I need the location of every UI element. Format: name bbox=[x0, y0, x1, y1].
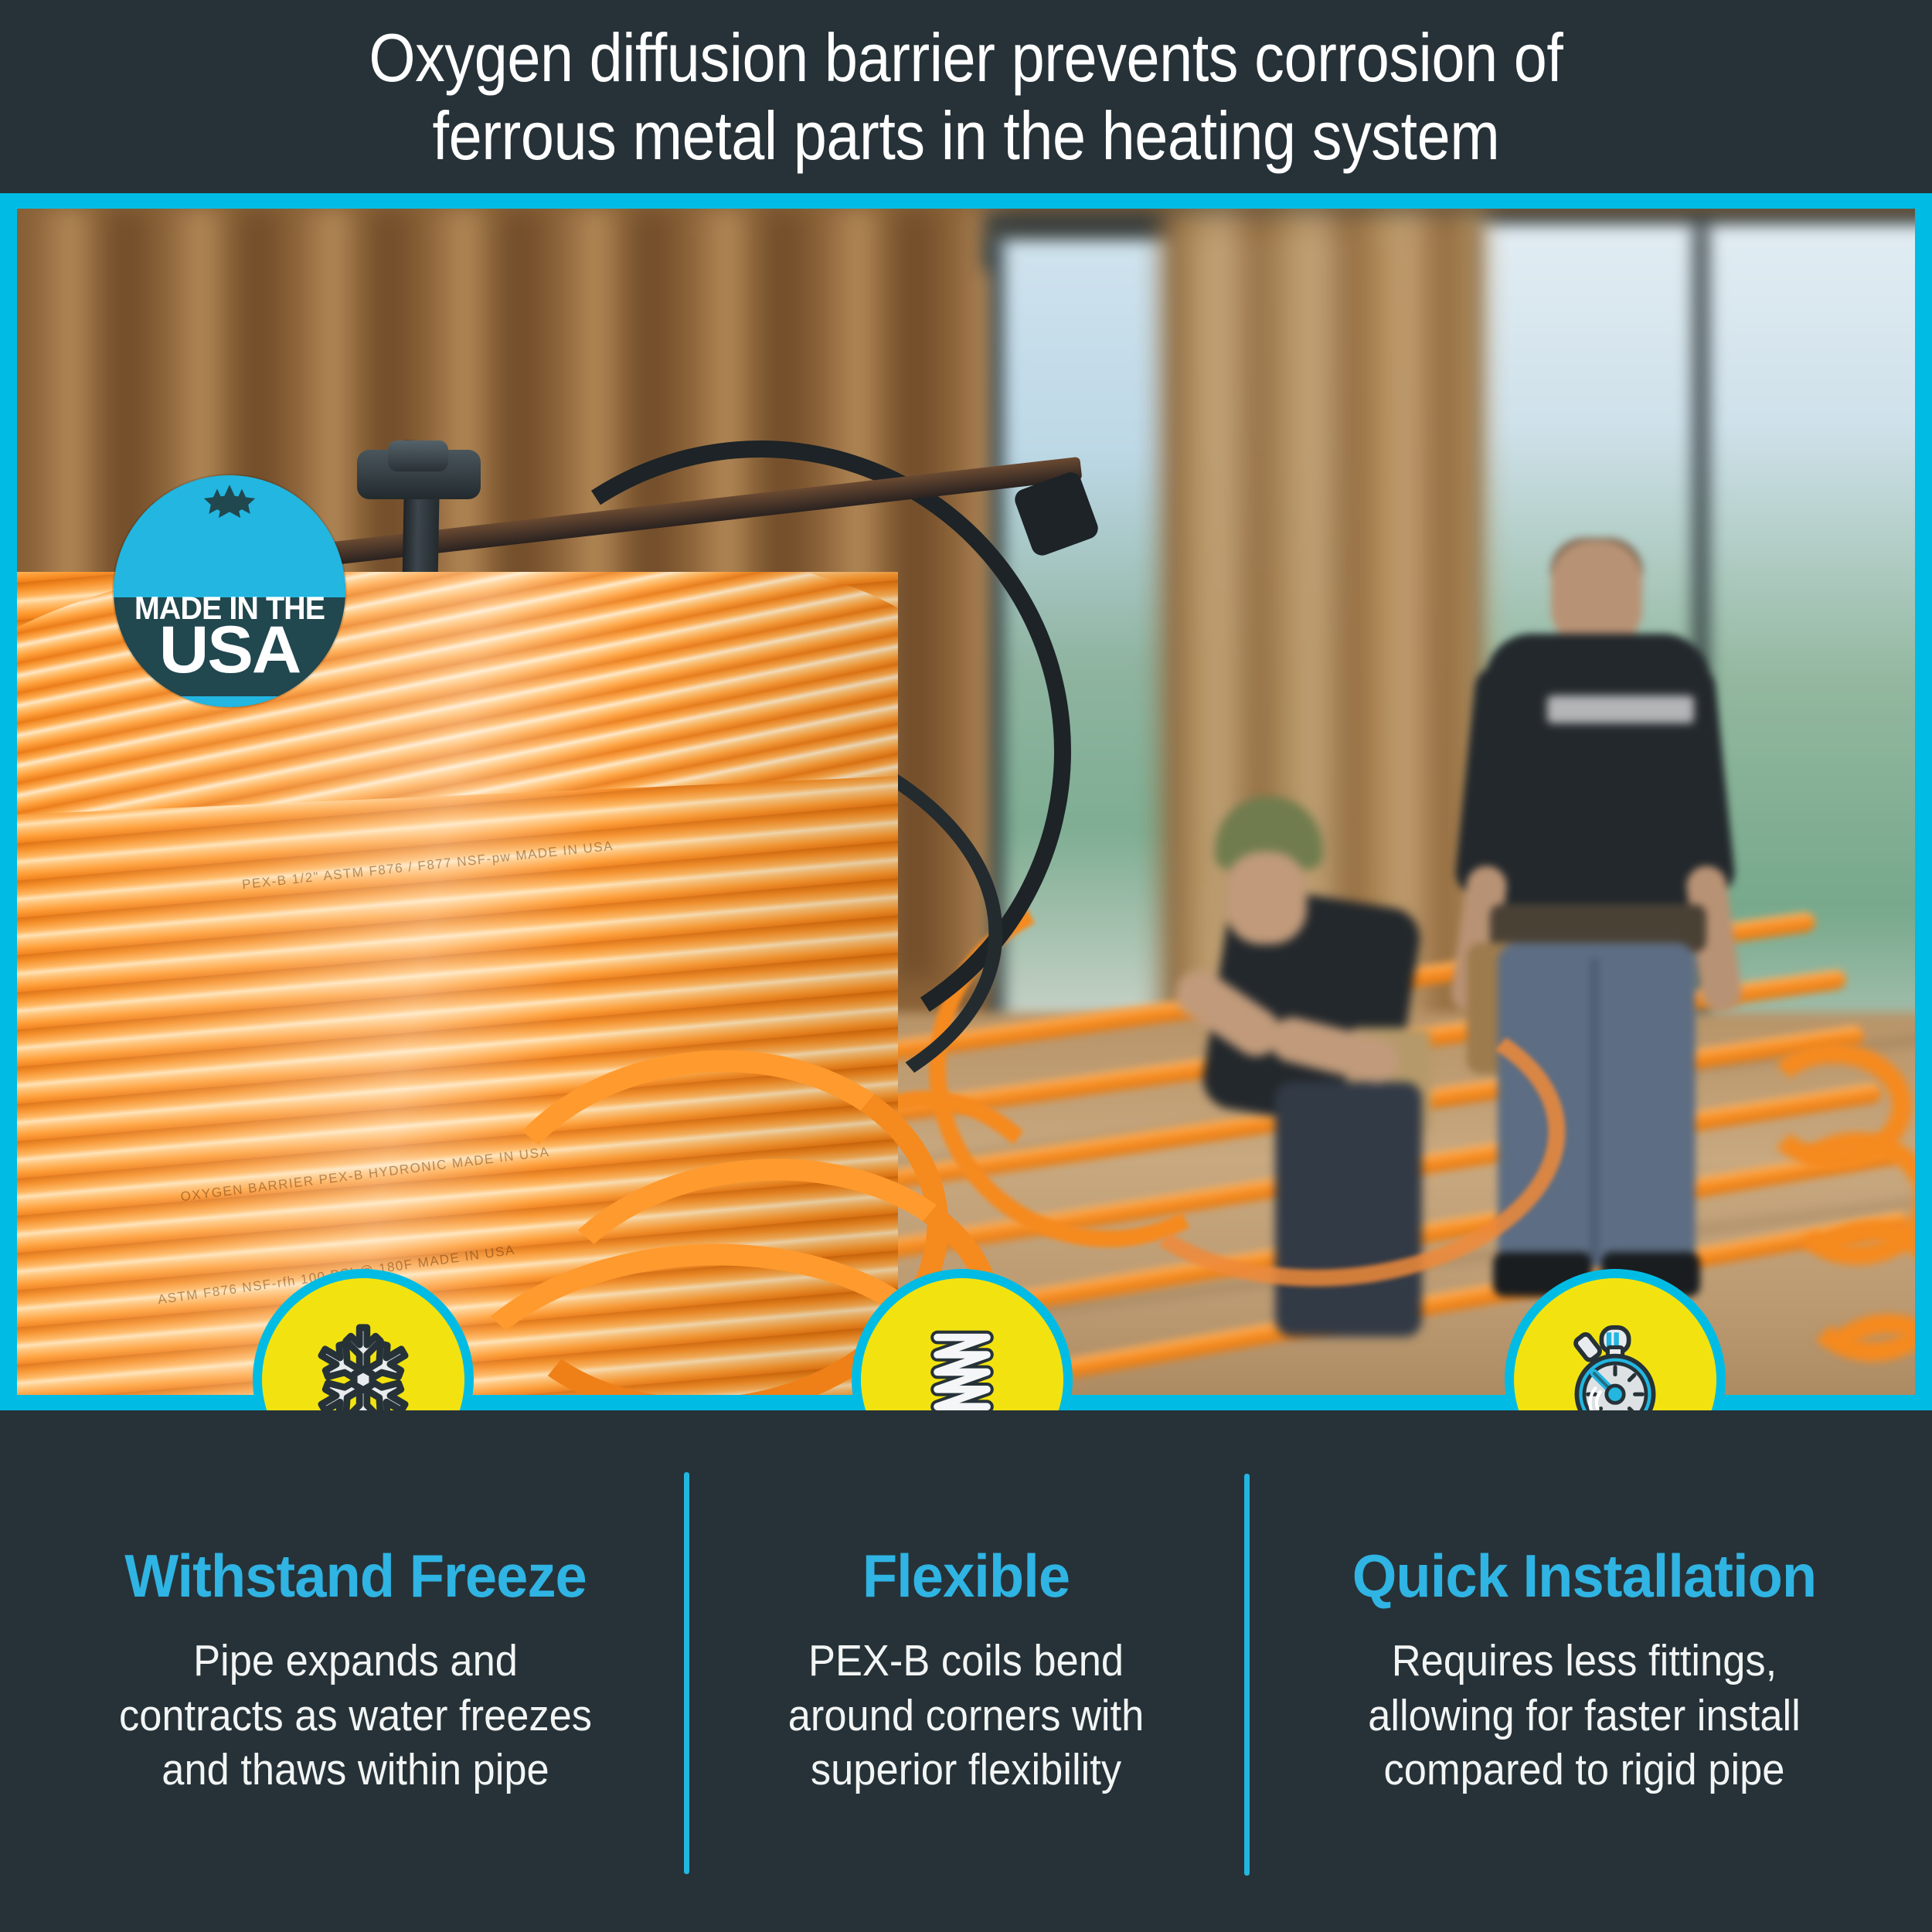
feature-column-quick-install: Quick Installation Requires less fitting… bbox=[1252, 1546, 1917, 1798]
feature-description: PEX-B coils bend around corners with sup… bbox=[713, 1634, 1218, 1798]
header-banner: Oxygen diffusion barrier prevents corros… bbox=[0, 0, 1932, 193]
feature-title: Flexible bbox=[706, 1546, 1227, 1606]
feature-strip: Withstand Freeze Pipe expands and contra… bbox=[0, 1410, 1932, 1932]
feature-column-flexible: Flexible PEX-B coils bend around corners… bbox=[692, 1546, 1240, 1798]
feature-column-freeze: Withstand Freeze Pipe expands and contra… bbox=[31, 1546, 680, 1798]
page-title: Oxygen diffusion barrier prevents corros… bbox=[369, 19, 1563, 175]
photo-frame: PEX-B 1/2" ASTM F876 / F877 NSF-pw MADE … bbox=[0, 193, 1932, 1410]
feature-title: Withstand Freeze bbox=[47, 1546, 664, 1606]
feature-description: Pipe expands and contracts as water free… bbox=[57, 1634, 655, 1798]
product-infographic: Oxygen diffusion barrier prevents corros… bbox=[0, 0, 1932, 1932]
hero-photo: PEX-B 1/2" ASTM F876 / F877 NSF-pw MADE … bbox=[17, 209, 1915, 1395]
feature-title: Quick Installation bbox=[1269, 1546, 1900, 1606]
column-divider bbox=[684, 1472, 689, 1874]
made-in-usa-badge: MADE IN THE USA bbox=[114, 475, 345, 707]
badge-line-2: USA bbox=[114, 619, 345, 682]
badge-stripe bbox=[138, 696, 321, 707]
feature-description: Requires less fittings, allowing for fas… bbox=[1278, 1634, 1889, 1798]
column-divider bbox=[1244, 1474, 1250, 1876]
